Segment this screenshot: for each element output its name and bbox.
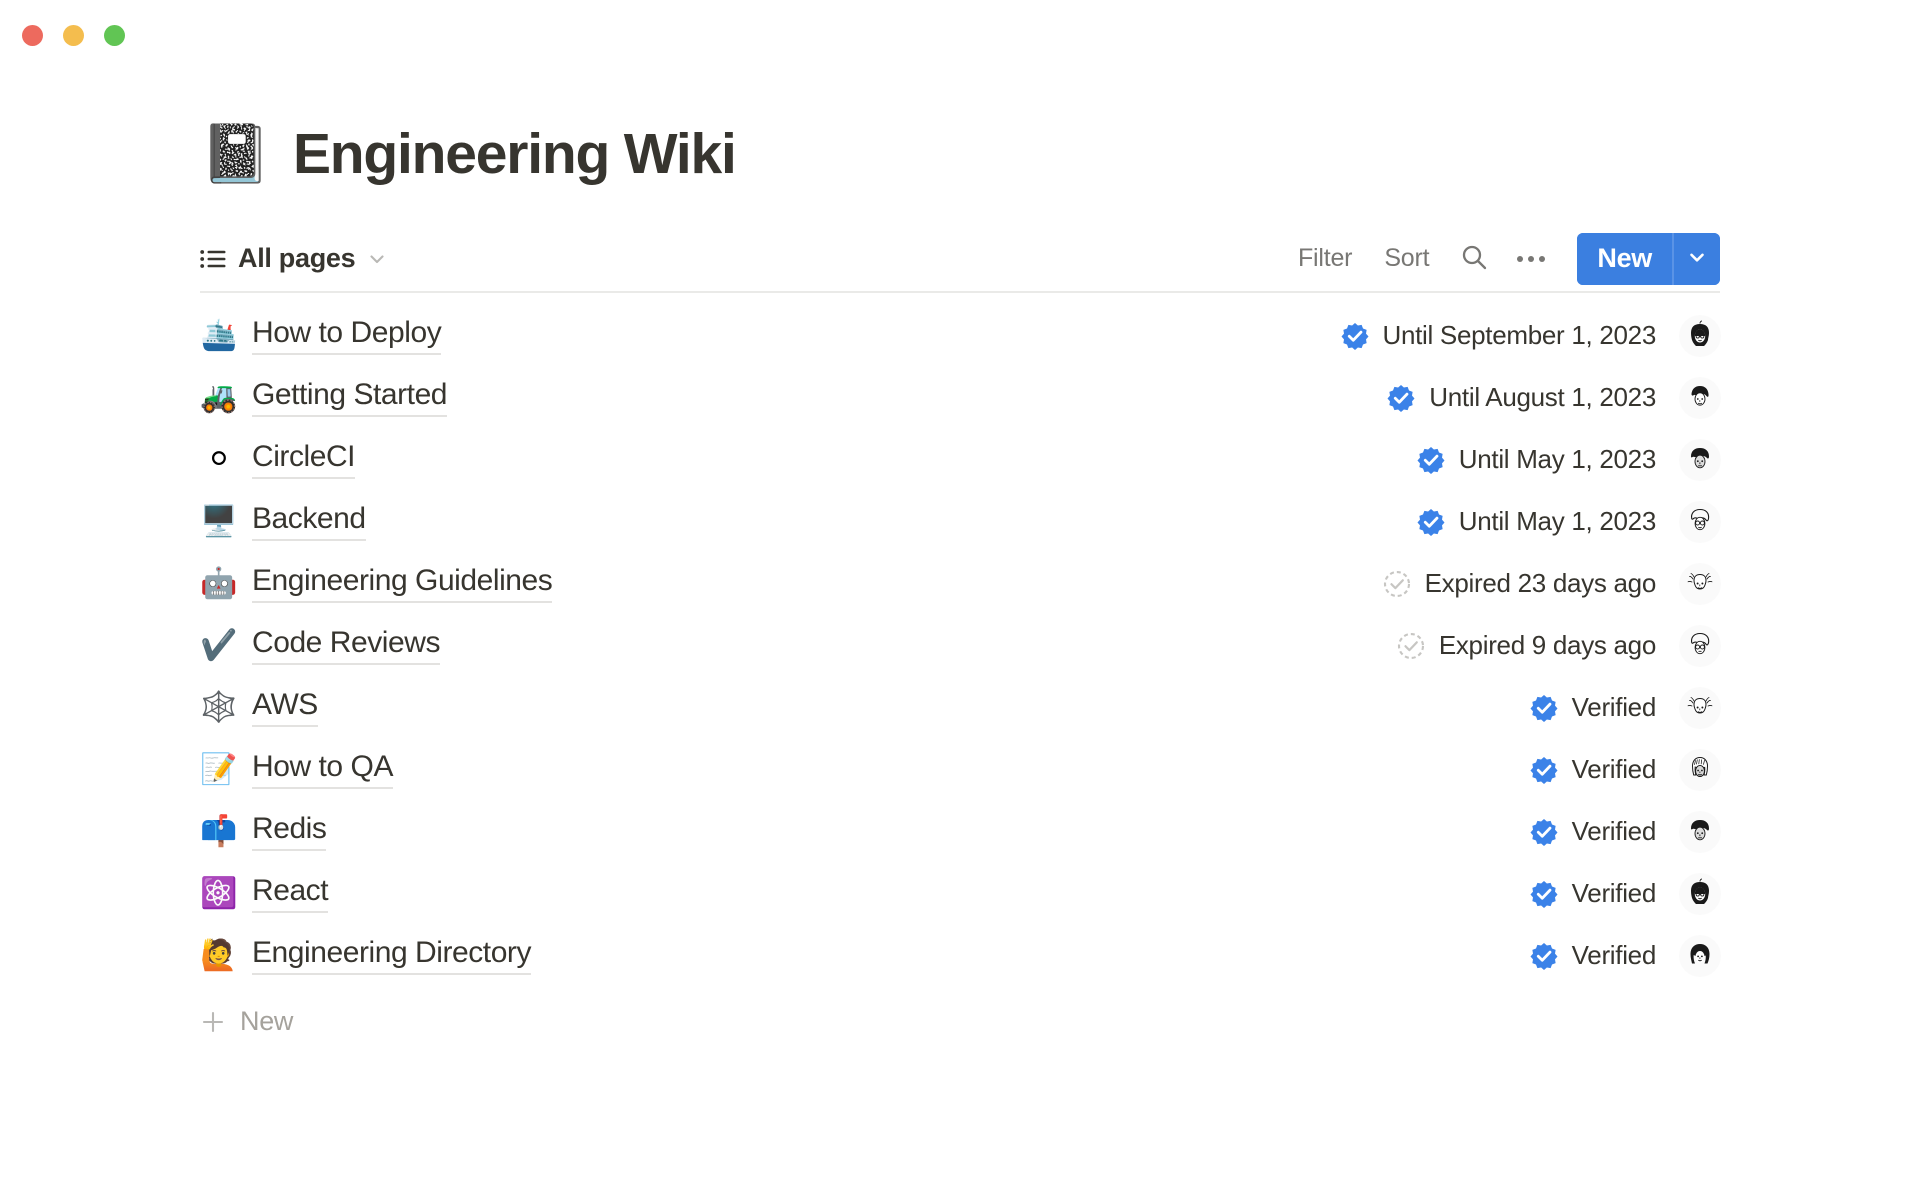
row-main: 📝 How to QA (200, 750, 393, 789)
page-title: Engineering Wiki (293, 125, 736, 185)
verified-badge-icon (1529, 755, 1559, 785)
chevron-down-icon (1686, 246, 1708, 271)
avatar[interactable] (1680, 378, 1720, 418)
verified-badge-icon (1529, 817, 1559, 847)
verification-status[interactable]: Until May 1, 2023 (1416, 444, 1656, 475)
status-label: Until September 1, 2023 (1383, 320, 1657, 351)
page-link[interactable]: Getting Started (252, 378, 447, 417)
verification-status[interactable]: Verified (1529, 754, 1656, 785)
table-row[interactable]: 📫 Redis Verified (200, 801, 1720, 863)
row-main: 🖥️ Backend (200, 502, 366, 541)
status-label: Until May 1, 2023 (1459, 444, 1656, 475)
page-list: 🛳️ How to Deploy Until September 1, 2023 (200, 293, 1720, 987)
status-label: Verified (1572, 754, 1656, 785)
avatar[interactable] (1680, 316, 1720, 356)
verified-badge-icon (1529, 693, 1559, 723)
person-raising-hand-icon: 🙋 (200, 941, 238, 971)
row-main: 🤖 Engineering Guidelines (200, 564, 552, 603)
avatar[interactable] (1680, 440, 1720, 480)
tractor-icon: 🚜 (200, 383, 238, 413)
table-row[interactable]: 🤖 Engineering Guidelines Expired 23 days… (200, 553, 1720, 615)
new-dropdown-button[interactable] (1672, 233, 1720, 285)
row-meta: Verified (1529, 936, 1720, 976)
row-meta: Until September 1, 2023 (1340, 316, 1721, 356)
table-row[interactable]: 🙋 Engineering Directory Verified (200, 925, 1720, 987)
page-link[interactable]: Code Reviews (252, 626, 440, 665)
add-new-page-label: New (240, 1006, 293, 1037)
verification-status[interactable]: Until August 1, 2023 (1386, 382, 1656, 413)
page-link[interactable]: React (252, 874, 328, 913)
minimize-window-button[interactable] (63, 25, 84, 46)
app-window: 📓 Engineering Wiki All pages (0, 0, 1920, 1200)
page-content: 📓 Engineering Wiki All pages (0, 70, 1920, 1051)
row-meta: Verified (1529, 688, 1720, 728)
page-header: 📓 Engineering Wiki (0, 70, 1920, 185)
avatar[interactable] (1680, 564, 1720, 604)
status-label: Expired 23 days ago (1425, 568, 1656, 599)
row-meta: Verified (1529, 874, 1720, 914)
close-window-button[interactable] (22, 25, 43, 46)
status-label: Verified (1572, 816, 1656, 847)
page-link[interactable]: Engineering Directory (252, 936, 531, 975)
ellipsis-icon (1517, 256, 1545, 262)
status-label: Verified (1572, 940, 1656, 971)
search-icon (1459, 242, 1489, 275)
search-button[interactable] (1445, 238, 1503, 279)
verified-badge-icon (1529, 941, 1559, 971)
verified-badge-icon (1340, 321, 1370, 351)
verification-status[interactable]: Expired 9 days ago (1396, 630, 1656, 661)
passenger-ship-icon: 🛳️ (200, 321, 238, 351)
table-row[interactable]: 🖥️ Backend Until May 1, 2023 (200, 491, 1720, 553)
verified-badge-icon (1529, 879, 1559, 909)
table-row[interactable]: ⚪ CircleCI Until May 1, 2023 (200, 429, 1720, 491)
view-switcher[interactable]: All pages (200, 243, 387, 280)
traffic-lights (22, 25, 125, 46)
row-meta: Expired 9 days ago (1396, 626, 1720, 666)
table-row[interactable]: 📝 How to QA Verified (200, 739, 1720, 801)
memo-icon: 📝 (200, 755, 238, 785)
page-link[interactable]: AWS (252, 688, 318, 727)
avatar[interactable] (1680, 626, 1720, 666)
list-icon (200, 249, 226, 269)
filter-button[interactable]: Filter (1282, 240, 1368, 277)
page-link[interactable]: How to Deploy (252, 316, 441, 355)
table-row[interactable]: ⚛️ React Verified (200, 863, 1720, 925)
row-main: ✔️ Code Reviews (200, 626, 440, 665)
row-main: 🙋 Engineering Directory (200, 936, 531, 975)
notebook-icon: 📓 (200, 126, 271, 183)
avatar[interactable] (1680, 688, 1720, 728)
status-label: Until May 1, 2023 (1459, 506, 1656, 537)
row-meta: Until May 1, 2023 (1416, 440, 1720, 480)
plus-icon (200, 1009, 226, 1035)
verification-status[interactable]: Verified (1529, 816, 1656, 847)
page-link[interactable]: CircleCI (252, 440, 355, 479)
row-main: 🚜 Getting Started (200, 378, 447, 417)
desktop-computer-icon: 🖥️ (200, 507, 238, 537)
avatar[interactable] (1680, 812, 1720, 852)
row-main: ⚛️ React (200, 874, 328, 913)
new-button-group: New (1577, 233, 1720, 285)
verified-badge-icon (1416, 507, 1446, 537)
window-titlebar (0, 0, 1920, 70)
verification-status[interactable]: Expired 23 days ago (1382, 568, 1656, 599)
view-switcher-label: All pages (238, 243, 355, 274)
table-row[interactable]: 🚜 Getting Started Until August 1, 2023 (200, 367, 1720, 429)
row-main: ⚪ CircleCI (200, 440, 355, 479)
row-main: 🕸️ AWS (200, 688, 318, 727)
sort-button[interactable]: Sort (1368, 240, 1445, 277)
new-button[interactable]: New (1577, 233, 1672, 285)
status-label: Verified (1572, 692, 1656, 723)
row-meta: Expired 23 days ago (1382, 564, 1720, 604)
expired-badge-icon (1396, 631, 1426, 661)
page-link[interactable]: Backend (252, 502, 366, 541)
status-label: Until August 1, 2023 (1429, 382, 1656, 413)
closed-mailbox-raised-flag-icon: 📫 (200, 817, 238, 847)
verification-status[interactable]: Verified (1529, 692, 1656, 723)
page-link[interactable]: How to QA (252, 750, 393, 789)
row-meta: Until August 1, 2023 (1386, 378, 1720, 418)
verification-status[interactable]: Verified (1529, 878, 1656, 909)
row-meta: Verified (1529, 750, 1720, 790)
avatar[interactable] (1680, 750, 1720, 790)
chevron-down-icon (367, 249, 387, 269)
heavy-check-mark-icon: ✔️ (200, 631, 238, 661)
status-label: Expired 9 days ago (1439, 630, 1656, 661)
verification-status[interactable]: Until May 1, 2023 (1416, 506, 1656, 537)
row-main: 🛳️ How to Deploy (200, 316, 441, 355)
table-row[interactable]: 🛳️ How to Deploy Until September 1, 2023 (200, 305, 1720, 367)
more-options-button[interactable] (1503, 252, 1559, 266)
toolbar-actions: Filter Sort New (1282, 233, 1720, 291)
table-row[interactable]: ✔️ Code Reviews Expired 9 days ago (200, 615, 1720, 677)
spider-web-icon: 🕸️ (200, 693, 238, 723)
expired-badge-icon (1382, 569, 1412, 599)
page-link[interactable]: Redis (252, 812, 326, 851)
white-circle-icon: ⚪ (200, 445, 238, 475)
avatar[interactable] (1680, 874, 1720, 914)
verified-badge-icon (1386, 383, 1416, 413)
add-new-page-row[interactable]: New (200, 993, 1720, 1051)
verification-status[interactable]: Until September 1, 2023 (1340, 320, 1657, 351)
row-main: 📫 Redis (200, 812, 326, 851)
atom-symbol-icon: ⚛️ (200, 879, 238, 909)
verified-badge-icon (1416, 445, 1446, 475)
page-link[interactable]: Engineering Guidelines (252, 564, 552, 603)
maximize-window-button[interactable] (104, 25, 125, 46)
row-meta: Verified (1529, 812, 1720, 852)
avatar[interactable] (1680, 936, 1720, 976)
robot-icon: 🤖 (200, 569, 238, 599)
database-toolbar: All pages Filter Sort (200, 233, 1720, 293)
status-label: Verified (1572, 878, 1656, 909)
verification-status[interactable]: Verified (1529, 940, 1656, 971)
avatar[interactable] (1680, 502, 1720, 542)
row-meta: Until May 1, 2023 (1416, 502, 1720, 542)
table-row[interactable]: 🕸️ AWS Verified (200, 677, 1720, 739)
